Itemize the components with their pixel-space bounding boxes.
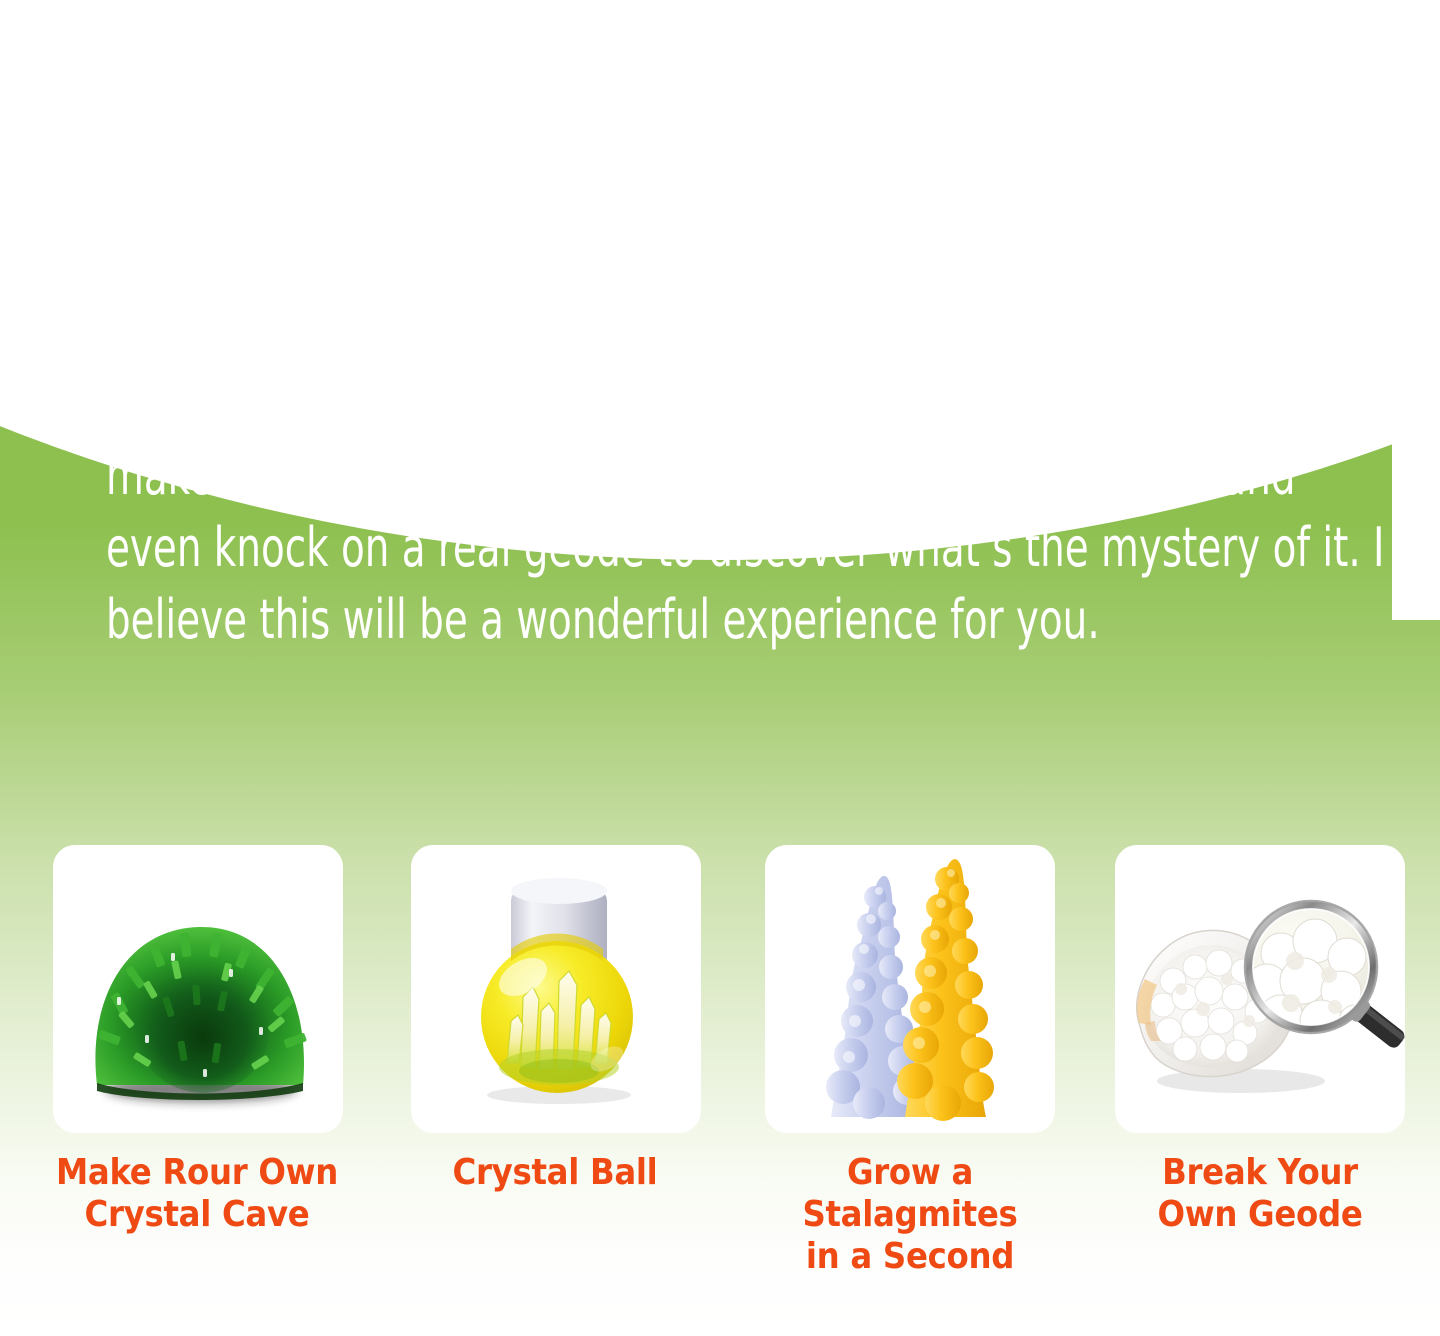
product-card-crystal-cave[interactable] <box>53 845 343 1133</box>
background-top-strip <box>0 0 1440 24</box>
decoration-dot <box>60 320 86 346</box>
caption-line: Crystal Ball <box>405 1152 705 1194</box>
caption-line: Break Your <box>1110 1152 1410 1194</box>
caption-line: Own Geode <box>1110 1194 1410 1236</box>
product-card-crystal-ball[interactable] <box>411 845 701 1133</box>
product-card-stalagmites[interactable] <box>765 845 1055 1133</box>
caption-geode: Break Your Own Geode <box>1110 1152 1410 1236</box>
caption-stalagmites: Grow a Stalagmites in a Second <box>760 1152 1060 1278</box>
caption-line: Grow a Stalagmites <box>760 1152 1060 1236</box>
crystal-cave-icon <box>53 845 343 1133</box>
caption-line: in a Second <box>760 1236 1060 1278</box>
crystal-ball-icon <box>411 845 701 1133</box>
geode-magnifier-icon <box>1115 845 1405 1133</box>
caption-line: Crystal Cave <box>47 1194 347 1236</box>
exclamation-dots-decoration <box>60 172 88 383</box>
intro-paragraph: Crystal Cave Adventure Kit can help you … <box>106 296 1402 656</box>
page-title: Activities <box>104 176 396 258</box>
product-card-row <box>0 845 1440 1135</box>
product-card-geode[interactable] <box>1115 845 1405 1133</box>
activities-panel: Activities Crystal Cave Adventure Kit ca… <box>0 0 1440 1336</box>
caption-line: Make Rour Own <box>47 1152 347 1194</box>
decoration-dot <box>60 283 86 309</box>
caption-crystal-ball: Crystal Ball <box>405 1152 705 1194</box>
product-caption-row: Make Rour Own Crystal Cave Crystal Ball … <box>0 1152 1440 1262</box>
stalagmites-icon <box>765 845 1055 1133</box>
caption-crystal-cave: Make Rour Own Crystal Cave <box>47 1152 347 1236</box>
decoration-bar <box>60 172 86 272</box>
decoration-dot <box>60 357 86 383</box>
